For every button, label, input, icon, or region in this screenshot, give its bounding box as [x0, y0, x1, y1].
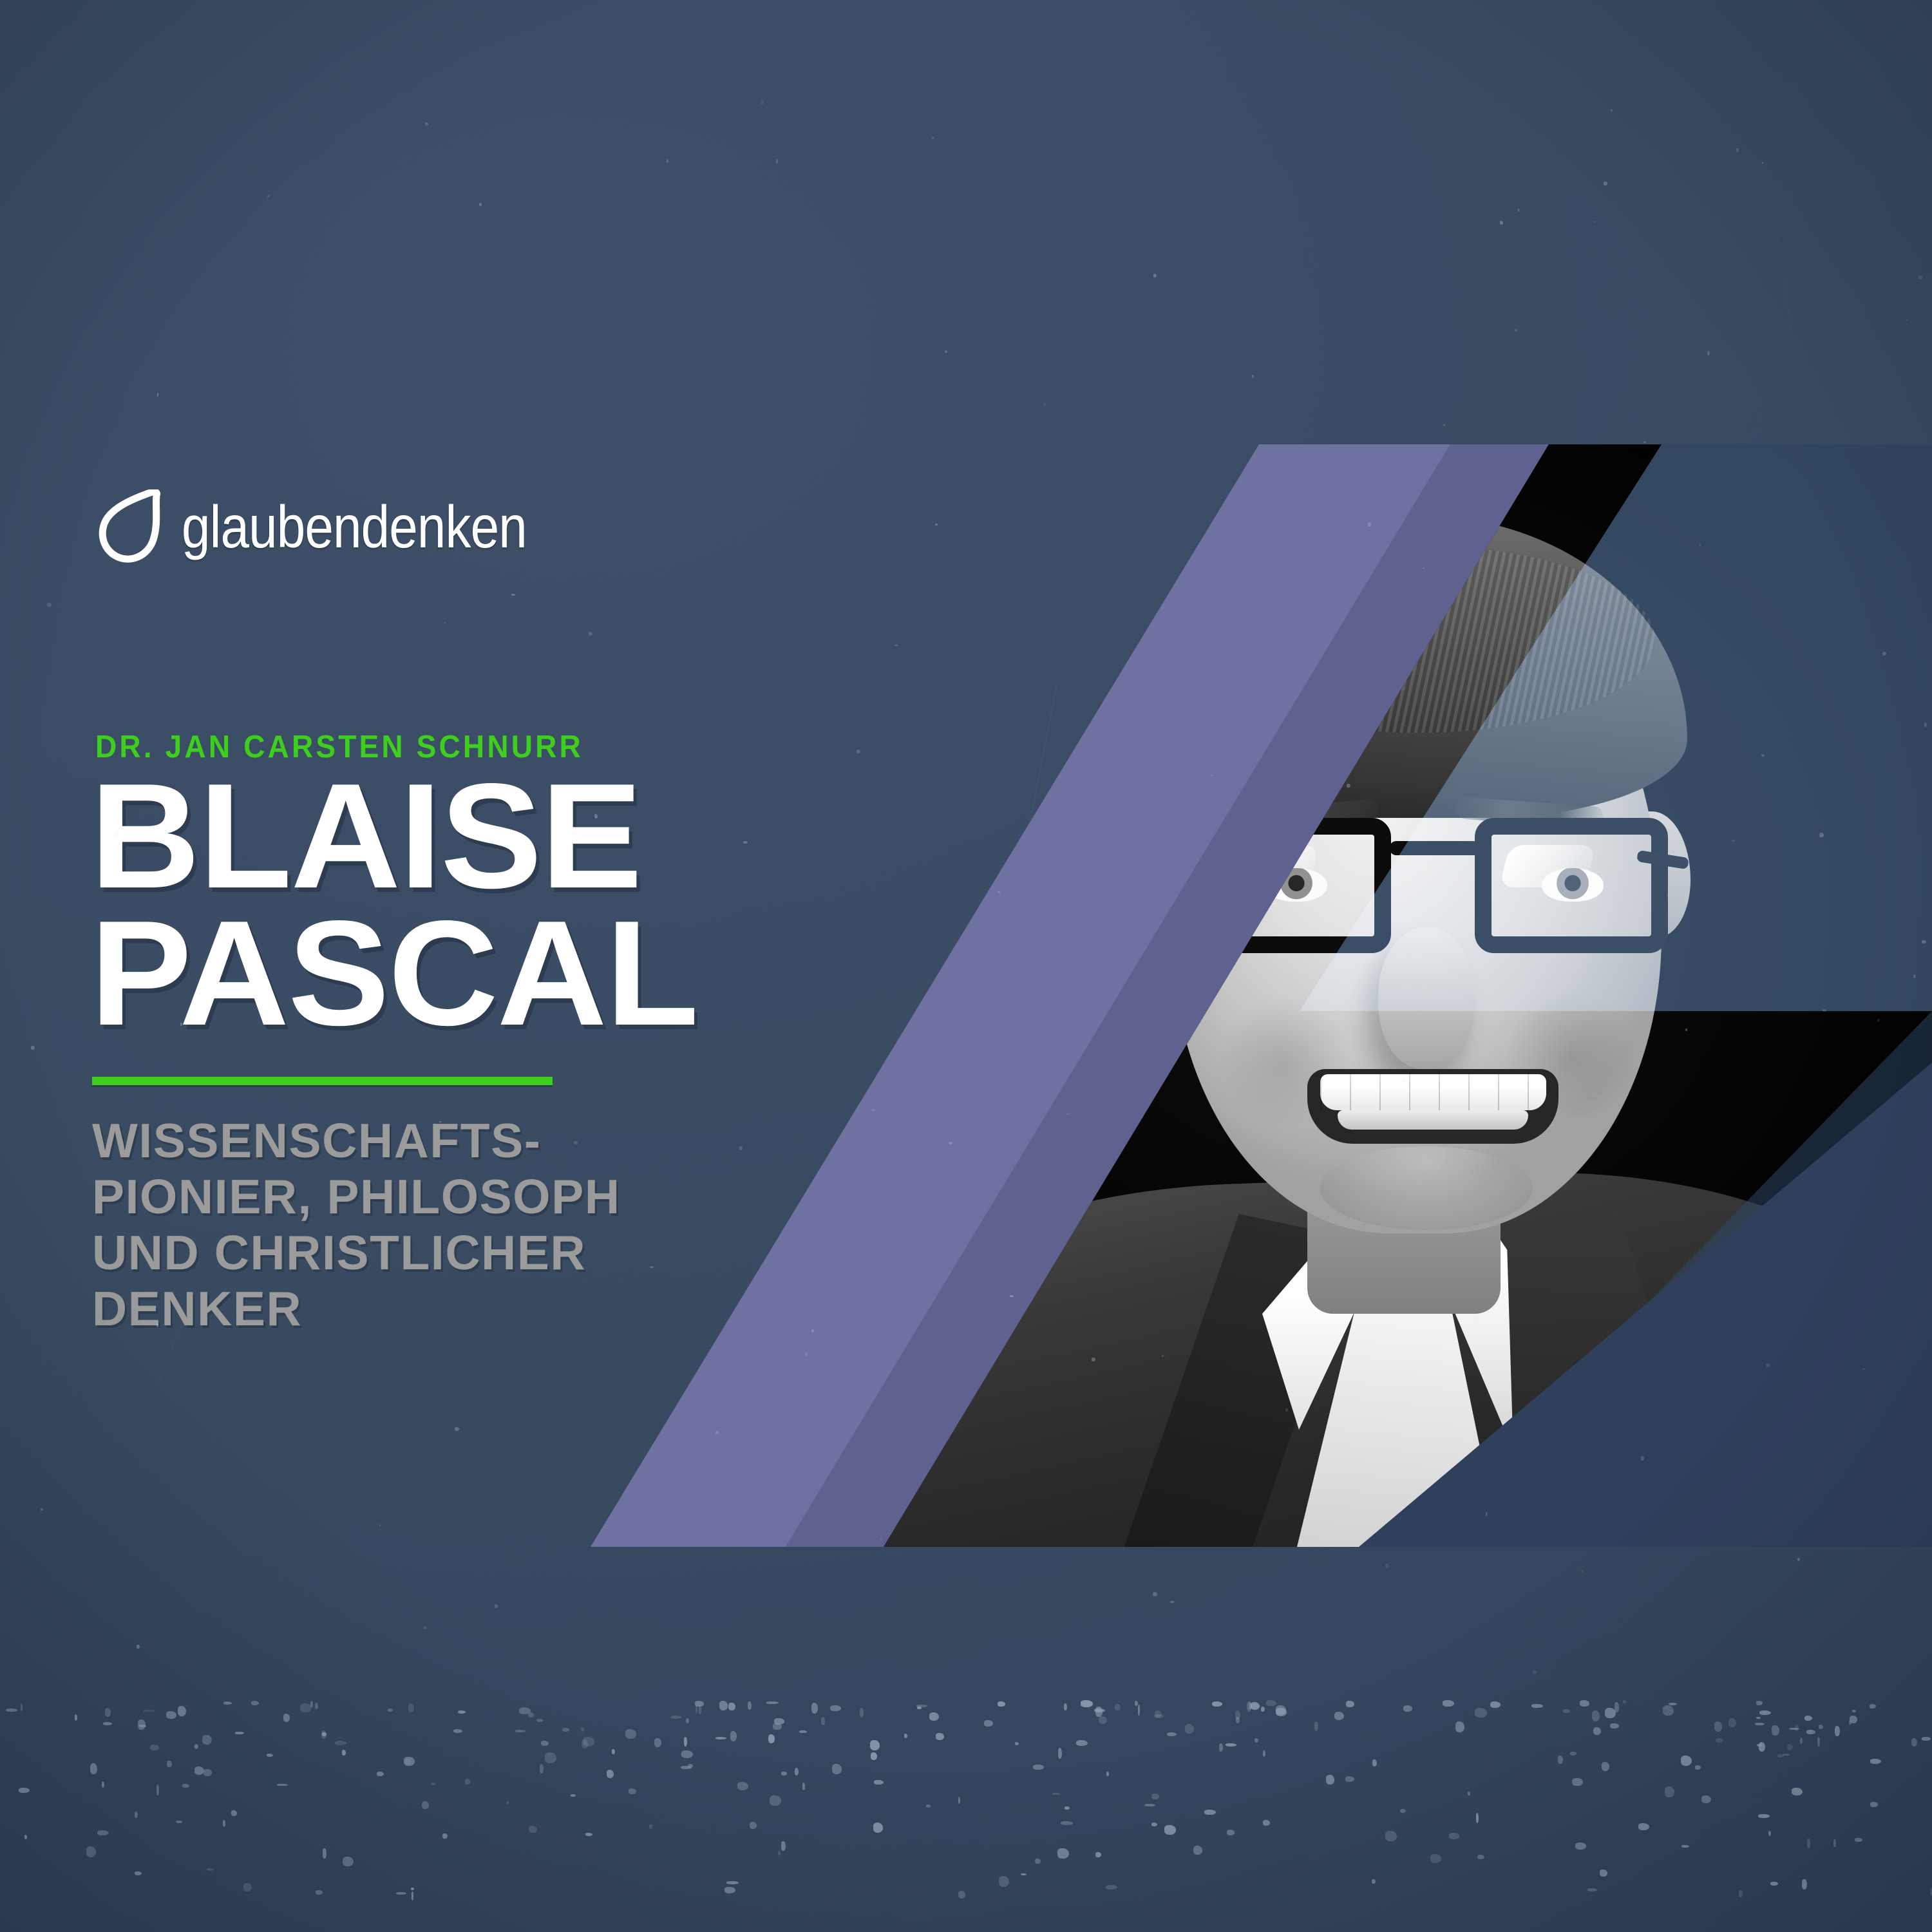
- accent-divider: [92, 1077, 553, 1085]
- title-line-1: BLAISE: [90, 768, 697, 905]
- portrait-chin: [1320, 1146, 1533, 1230]
- page-title: BLAISE PASCAL: [90, 768, 697, 1043]
- portrait-mouth: [1307, 1069, 1558, 1144]
- subtitle-line-4: DENKER: [92, 1281, 621, 1337]
- brand-wordmark: glaubendenken: [182, 497, 527, 557]
- portrait-teeth-upper: [1320, 1074, 1546, 1110]
- brand-logo[interactable]: glaubendenken: [95, 489, 583, 564]
- subtitle: WISSENSCHAFTS- PIONIER, PHILOSOPH UND CH…: [92, 1113, 621, 1337]
- subtitle-line-3: UND CHRISTLICHER: [92, 1225, 621, 1281]
- portrait-eye-right: [1542, 868, 1604, 902]
- subtitle-line-2: PIONIER, PHILOSOPH: [92, 1169, 621, 1225]
- portrait-nose: [1378, 927, 1475, 1069]
- glasses-bridge: [1390, 841, 1480, 855]
- subtitle-line-1: WISSENSCHAFTS-: [92, 1113, 621, 1169]
- portrait-teeth-lower: [1338, 1110, 1528, 1130]
- leaf-droplet-icon: [95, 489, 165, 564]
- portrait-composite: [580, 444, 1932, 1558]
- podcast-cover: glaubendenken DR. JAN CARSTEN SCHNURR BL…: [0, 0, 1932, 1932]
- title-line-2: PASCAL: [90, 905, 697, 1042]
